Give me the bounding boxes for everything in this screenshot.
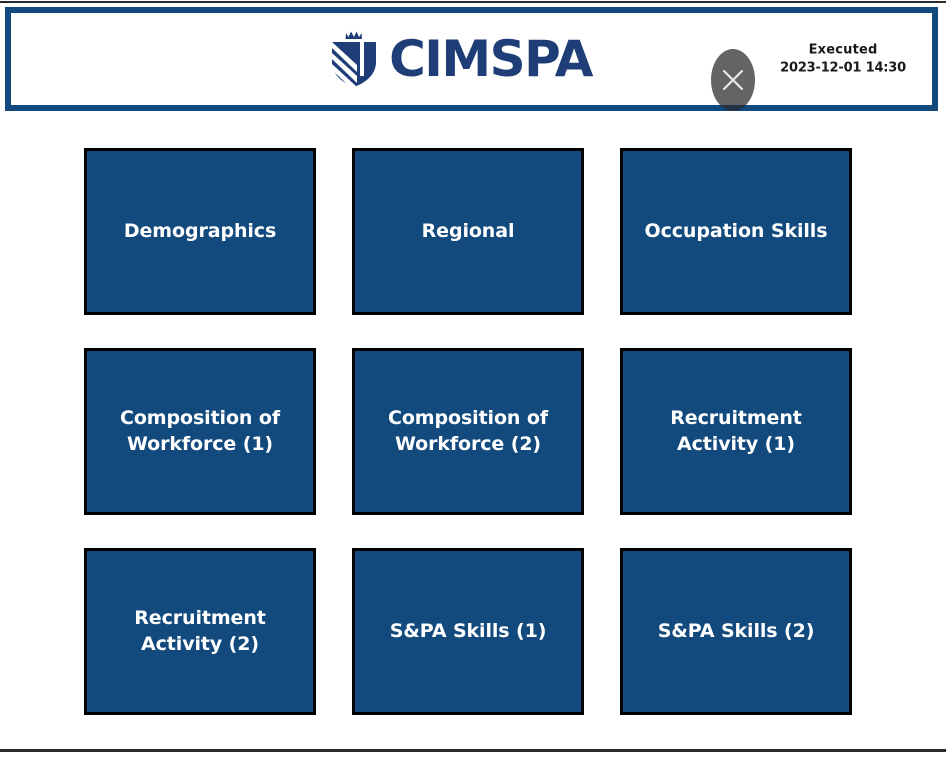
overlay-disc bbox=[711, 49, 755, 111]
tile-label: Demographics bbox=[124, 219, 276, 244]
tile-label: Recruitment Activity (1) bbox=[670, 406, 801, 456]
tile-label: Composition of Workforce (1) bbox=[120, 406, 280, 456]
report-navigation-page: CIMSPA Executed 2023-12-01 14:30 Demogra… bbox=[0, 0, 946, 757]
tile-label: Regional bbox=[422, 219, 515, 244]
tile-composition-of-workforce-1[interactable]: Composition of Workforce (1) bbox=[84, 348, 316, 515]
x-cross-icon bbox=[711, 49, 755, 111]
tile-demographics[interactable]: Demographics bbox=[84, 148, 316, 315]
tile-recruitment-activity-2[interactable]: Recruitment Activity (2) bbox=[84, 548, 316, 715]
cimspa-logo: CIMSPA bbox=[327, 28, 592, 90]
tile-label: Recruitment Activity (2) bbox=[134, 606, 265, 656]
cimspa-shield-crest-icon bbox=[327, 28, 381, 90]
tile-spa-skills-1[interactable]: S&PA Skills (1) bbox=[352, 548, 584, 715]
tile-label: Occupation Skills bbox=[645, 219, 828, 244]
tile-spa-skills-2[interactable]: S&PA Skills (2) bbox=[620, 548, 852, 715]
report-tile-grid: Demographics Regional Occupation Skills … bbox=[84, 148, 856, 715]
tile-composition-of-workforce-2[interactable]: Composition of Workforce (2) bbox=[352, 348, 584, 515]
tile-label: S&PA Skills (2) bbox=[658, 619, 815, 644]
top-divider bbox=[0, 1, 946, 3]
bottom-divider bbox=[0, 749, 946, 752]
execution-timestamp: 2023-12-01 14:30 bbox=[780, 59, 906, 77]
x-cross-overlay bbox=[711, 49, 755, 111]
tile-regional[interactable]: Regional bbox=[352, 148, 584, 315]
tile-label: Composition of Workforce (2) bbox=[388, 406, 548, 456]
execution-status: Executed 2023-12-01 14:30 bbox=[780, 41, 906, 76]
execution-status-label: Executed bbox=[780, 41, 906, 59]
tile-recruitment-activity-1[interactable]: Recruitment Activity (1) bbox=[620, 348, 852, 515]
tile-label: S&PA Skills (1) bbox=[390, 619, 547, 644]
tile-occupation-skills[interactable]: Occupation Skills bbox=[620, 148, 852, 315]
cimspa-wordmark: CIMSPA bbox=[389, 34, 592, 84]
header-banner: CIMSPA Executed 2023-12-01 14:30 bbox=[5, 7, 938, 111]
header-inner: CIMSPA Executed 2023-12-01 14:30 bbox=[11, 13, 932, 105]
